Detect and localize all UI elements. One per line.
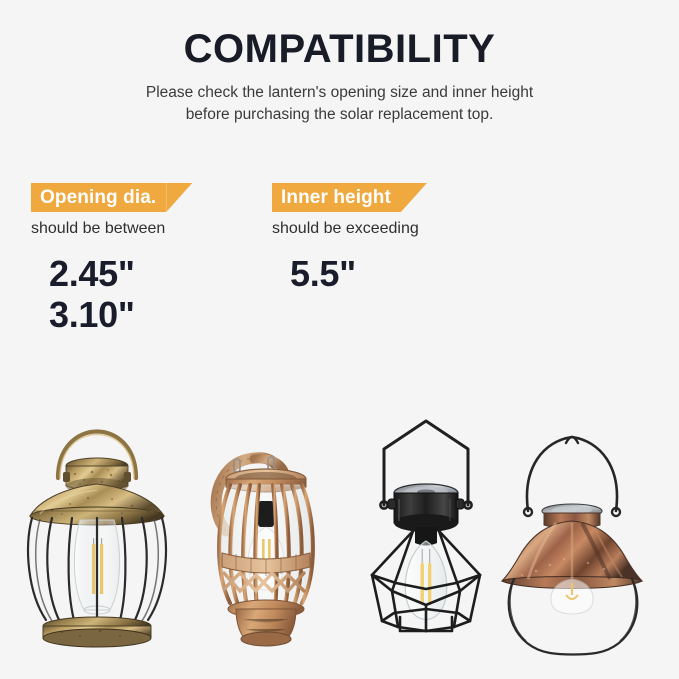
spec-values-inner-height: 5.5"	[290, 253, 419, 294]
lantern-copper-bell-shade	[492, 423, 657, 663]
spec-value-min-height: 5.5"	[290, 253, 419, 294]
header: COMPATIBILITY Please check the lantern's…	[0, 26, 679, 126]
infographic-page: COMPATIBILITY Please check the lantern's…	[0, 0, 679, 679]
lantern-black-geometric-wire	[366, 413, 486, 663]
spec-value-max: 3.10"	[49, 294, 166, 335]
spec-qualifier-opening-dia: should be between	[31, 219, 166, 239]
lantern-gallery	[0, 370, 679, 679]
spec-list: Opening dia. should be between 2.45" 3.1…	[0, 183, 679, 343]
spec-opening-diameter: Opening dia. should be between 2.45" 3.1…	[31, 183, 166, 335]
subtitle-line-2: before purchasing the solar replacement …	[80, 104, 600, 126]
spec-values-opening-dia: 2.45" 3.10"	[49, 253, 166, 335]
spec-inner-height: Inner height should be exceeding 5.5"	[272, 183, 419, 294]
lantern-antique-bronze-cage	[22, 398, 172, 663]
lantern-rattan-bamboo	[196, 423, 336, 663]
spec-qualifier-inner-height: should be exceeding	[272, 219, 419, 239]
page-subtitle: Please check the lantern's opening size …	[80, 82, 600, 126]
spec-value-min: 2.45"	[49, 253, 166, 294]
subtitle-line-1: Please check the lantern's opening size …	[80, 82, 600, 104]
spec-badge-opening-dia: Opening dia.	[31, 183, 166, 212]
page-title: COMPATIBILITY	[0, 26, 679, 72]
spec-badge-inner-height: Inner height	[272, 183, 401, 212]
